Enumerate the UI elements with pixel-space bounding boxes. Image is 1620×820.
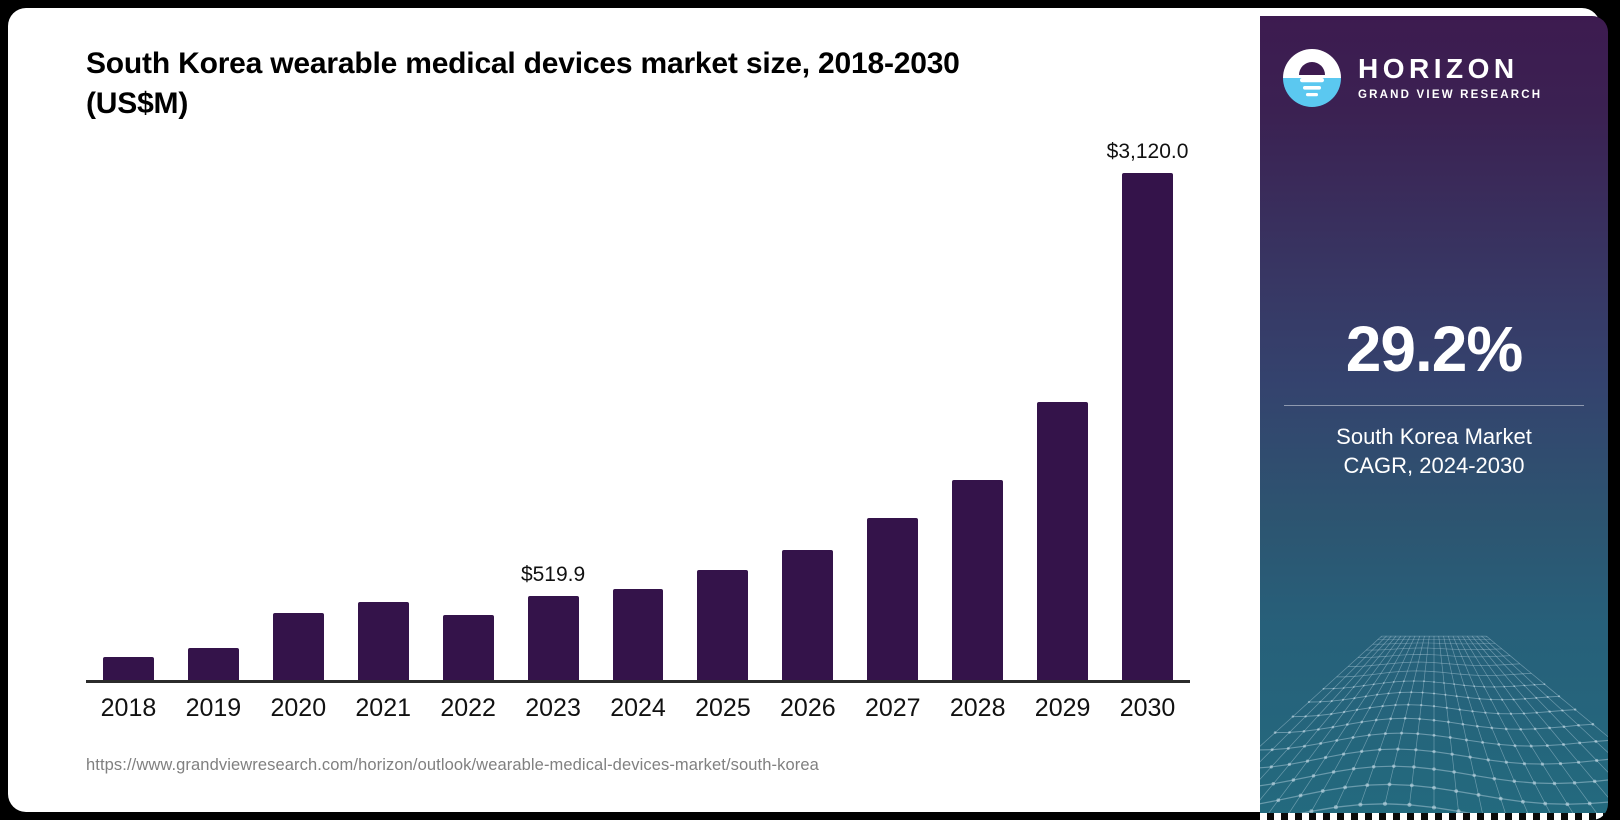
panel-bottom-ticks [1260, 813, 1608, 820]
chart-title-line-1: South Korea wearable medical devices mar… [86, 44, 1186, 84]
bar-value-label-2030: $3,120.0 [1068, 140, 1228, 164]
cagr-block: 29.2% South Korea Market CAGR, 2024-2030 [1260, 316, 1608, 481]
bar-2025 [697, 570, 748, 681]
logo-wordmark: HORIZON [1358, 55, 1542, 83]
bar-2026 [782, 550, 833, 680]
horizon-logo-icon [1282, 48, 1342, 108]
bar-2030 [1122, 173, 1173, 680]
bar-2020 [273, 613, 324, 680]
bar-2018 [103, 657, 154, 680]
source-url[interactable]: https://www.grandviewresearch.com/horizo… [86, 756, 819, 775]
cagr-description-line-1: South Korea Market [1260, 422, 1608, 451]
bar-2028 [952, 480, 1003, 680]
plot-area [86, 138, 1190, 683]
bar-2023 [528, 596, 579, 680]
chart-title-line-2: (US$M) [86, 84, 1186, 124]
horizon-logo: HORIZON GRAND VIEW RESEARCH [1282, 40, 1594, 116]
bar-2019 [188, 648, 239, 681]
bar-2024 [613, 589, 664, 680]
branding-panel: HORIZON GRAND VIEW RESEARCH 29.2% South … [1260, 16, 1608, 820]
screenshot-root: South Korea wearable medical devices mar… [0, 0, 1620, 820]
cagr-description-line-2: CAGR, 2024-2030 [1260, 451, 1608, 480]
bar-2021 [358, 602, 409, 680]
cagr-divider [1284, 405, 1584, 406]
cagr-value: 29.2% [1260, 316, 1608, 383]
chart-title: South Korea wearable medical devices mar… [86, 44, 1186, 123]
bar-2029 [1037, 402, 1088, 680]
x-tick-2030: 2030 [1088, 694, 1208, 723]
horizon-logo-text: HORIZON GRAND VIEW RESEARCH [1358, 55, 1542, 102]
chart-card: South Korea wearable medical devices mar… [8, 8, 1600, 812]
bar-2027 [867, 518, 918, 681]
bar-2022 [443, 615, 494, 680]
logo-tagline: GRAND VIEW RESEARCH [1358, 90, 1542, 102]
bar-value-label-2023: $519.9 [473, 563, 633, 587]
wireframe-mesh-graphic [1260, 630, 1608, 820]
x-axis-line [86, 680, 1190, 683]
